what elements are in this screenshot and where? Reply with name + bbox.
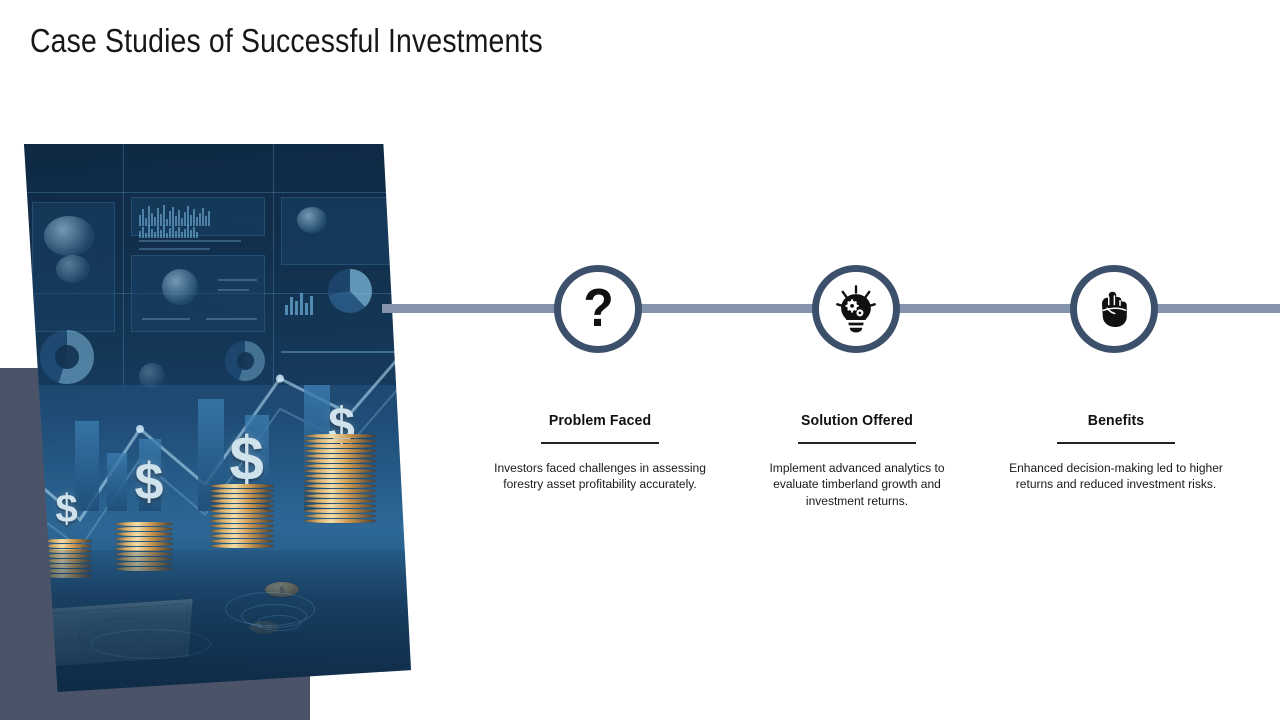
photo-blue-tint [20,144,415,692]
step-body-text: Investors faced challenges in assessing … [488,460,711,493]
step-circle-problem[interactable]: ? [554,265,642,353]
photo-content: $ $ $ $ [20,144,415,692]
step-circle-benefits[interactable] [1070,265,1158,353]
lightbulb-gears-icon [831,284,881,334]
step-circle-solution[interactable] [812,265,900,353]
step-heading: Benefits [1008,412,1224,429]
page-title: Case Studies of Successful Investments [30,22,543,60]
case-study-photo: $ $ $ $ [20,144,415,692]
step-divider [798,442,916,444]
step-heading: Problem Faced [492,412,708,429]
step-block-benefits: Benefits Enhanced decision-making led to… [1001,412,1231,493]
step-body-text: Enhanced decision-making led to higher r… [1004,460,1227,493]
raised-fist-icon [1090,285,1138,333]
step-block-problem: Problem Faced Investors faced challenges… [485,412,715,493]
step-block-solution: Solution Offered Implement advanced anal… [742,412,972,509]
step-body-text: Implement advanced analytics to evaluate… [745,460,968,510]
question-mark-icon: ? [583,281,613,335]
step-divider [541,442,659,444]
step-heading: Solution Offered [749,412,965,429]
step-divider [1057,442,1175,444]
